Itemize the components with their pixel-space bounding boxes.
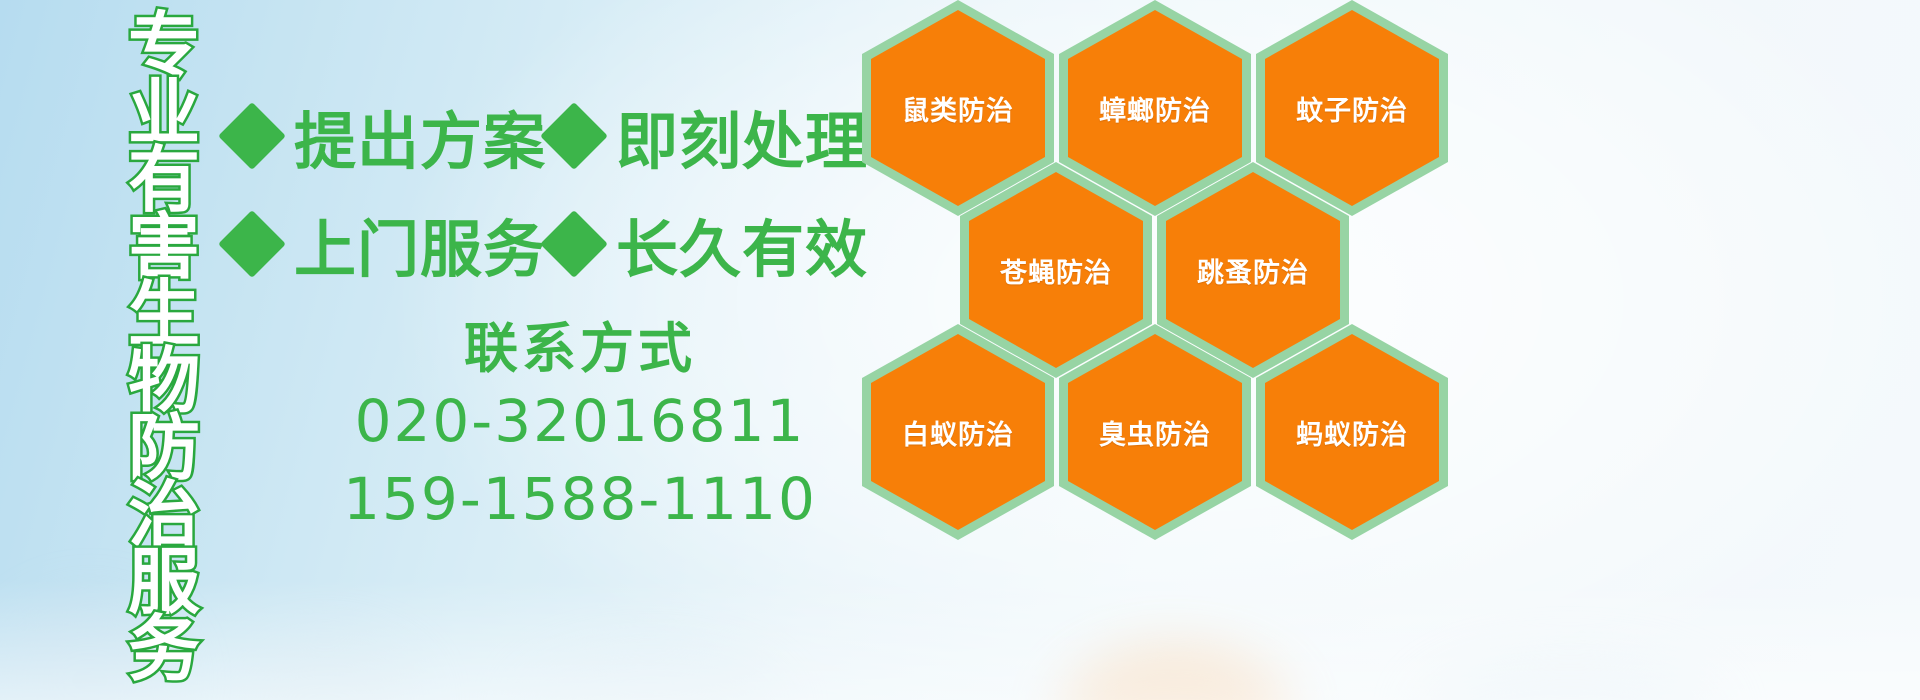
feature-label: 上门服务 xyxy=(294,199,546,289)
phone-number-landline[interactable]: 020-32016811 xyxy=(300,382,860,460)
diamond-bullet-icon xyxy=(540,210,608,278)
service-label: 臭虫防治 xyxy=(1099,413,1211,452)
service-label: 跳蚤防治 xyxy=(1197,251,1309,290)
feature-item: 即刻处理 xyxy=(550,91,868,181)
feature-row: 提出方案 即刻处理 xyxy=(228,82,868,190)
vertical-headline-char: 务 xyxy=(128,617,200,684)
vertical-headline-char: 生 xyxy=(128,282,200,349)
diamond-bullet-icon xyxy=(218,210,286,278)
vertical-headline-char: 有 xyxy=(128,148,200,215)
service-honeycomb: 鼠类防治 蟑螂防治 蚊子防治 苍蝇防治 跳蚤防治 白蚁防治 臭虫防治 蚂蚁 xyxy=(862,0,1462,544)
vertical-headline-char: 治 xyxy=(128,483,200,550)
feature-label: 长久有效 xyxy=(616,199,868,289)
vertical-headline: 专 业 有 害 生 物 防 治 服 务 xyxy=(112,14,216,559)
feature-list: 提出方案 即刻处理 上门服务 长久有效 xyxy=(228,82,868,298)
feature-item: 长久有效 xyxy=(550,199,868,289)
service-label: 蚂蚁防治 xyxy=(1296,413,1408,452)
feature-label: 即刻处理 xyxy=(616,91,868,181)
diamond-bullet-icon xyxy=(218,102,286,170)
banner-root: 专 业 有 害 生 物 防 治 服 务 提出方案 即刻处理 上门服务 xyxy=(0,0,1920,700)
phone-number-mobile[interactable]: 159-1588-1110 xyxy=(300,460,860,538)
vertical-headline-char: 服 xyxy=(128,550,200,617)
vertical-headline-char: 专 xyxy=(128,14,200,81)
service-label: 鼠类防治 xyxy=(902,89,1014,128)
contact-block: 联系方式 020-32016811 159-1588-1110 xyxy=(300,316,860,538)
vertical-headline-char: 防 xyxy=(128,416,200,483)
feature-item: 上门服务 xyxy=(228,199,546,289)
service-label: 白蚁防治 xyxy=(902,413,1014,452)
vertical-headline-char: 物 xyxy=(128,349,200,416)
feature-item: 提出方案 xyxy=(228,91,546,181)
vertical-headline-char: 害 xyxy=(128,215,200,282)
vertical-headline-char: 业 xyxy=(128,81,200,148)
feature-label: 提出方案 xyxy=(294,91,546,181)
service-label: 蟑螂防治 xyxy=(1099,89,1211,128)
feature-row: 上门服务 长久有效 xyxy=(228,190,868,298)
service-label: 苍蝇防治 xyxy=(1000,251,1112,290)
contact-title: 联系方式 xyxy=(300,316,860,382)
service-label: 蚊子防治 xyxy=(1296,89,1408,128)
diamond-bullet-icon xyxy=(540,102,608,170)
background-veil xyxy=(0,580,1920,700)
